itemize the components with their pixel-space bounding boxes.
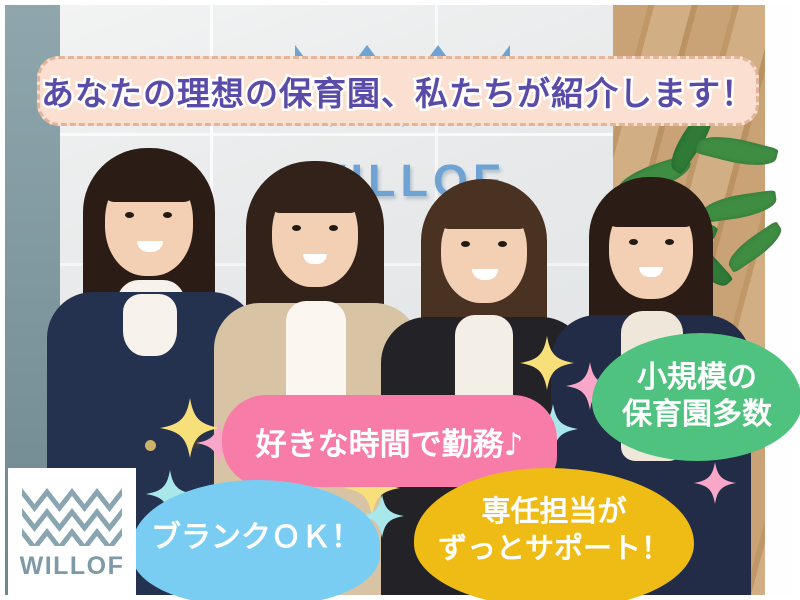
logo-wordmark: WILLOF	[20, 552, 125, 581]
bubble-line: 小規模の	[637, 360, 757, 397]
bubble-line: 保育園多数	[622, 397, 772, 434]
headline-banner: あなたの理想の保育園、私たちが紹介します！	[37, 56, 759, 126]
willof-zigzag-icon	[22, 484, 122, 546]
bubble-line: 専任担当が	[481, 493, 626, 530]
willof-logo-card: WILLOF	[8, 468, 136, 596]
bubble-line: 好きな時間で勤務♪	[256, 419, 524, 464]
bubble-blank-ok: ブランクＯＫ！	[132, 480, 380, 600]
bubble-small-nursery: 小規模の 保育園多数	[592, 333, 800, 461]
bubble-line: ずっとサポート！	[438, 530, 670, 567]
sparkle-icon	[694, 462, 736, 504]
headline-text: あなたの理想の保育園、私たちが紹介します！	[41, 67, 755, 115]
bubble-line: ブランクＯＫ！	[151, 512, 361, 556]
poster-root: WILLOF	[0, 0, 800, 600]
